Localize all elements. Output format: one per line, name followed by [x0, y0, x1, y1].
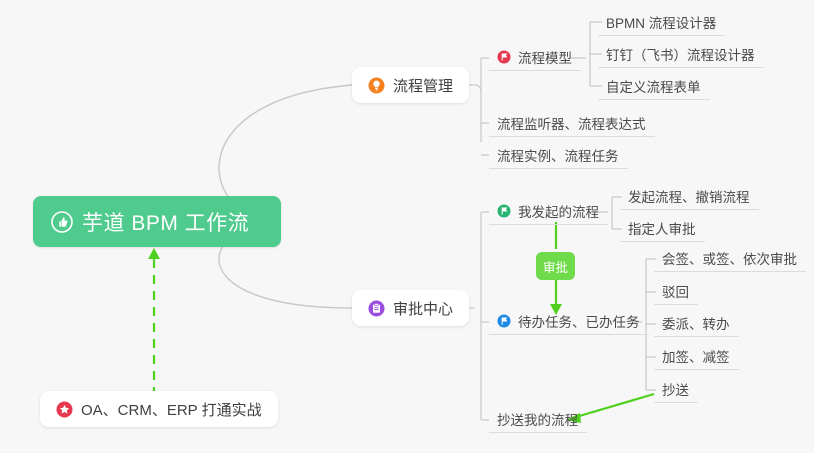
- node-label: 钉钉（飞书）流程设计器: [606, 44, 755, 64]
- bottom-note-integration[interactable]: OA、CRM、ERP 打通实战: [40, 391, 278, 427]
- flag-icon: [497, 204, 511, 218]
- node-label: 加签、减签: [662, 346, 730, 366]
- node-cc-to-me-process[interactable]: 抄送我的流程: [489, 406, 587, 433]
- node-add-remove-sign[interactable]: 加签、减签: [654, 343, 739, 370]
- node-label: 待办任务、已办任务: [518, 311, 640, 331]
- dashed-arrow-to-root: [148, 248, 160, 412]
- node-label: 会签、或签、依次审批: [662, 248, 797, 268]
- node-assigned-approver[interactable]: 指定人审批: [620, 215, 705, 242]
- bottom-note-label: OA、CRM、ERP 打通实战: [81, 399, 262, 420]
- node-label: 自定义流程表单: [606, 76, 701, 96]
- flag-icon: [497, 50, 511, 64]
- node-todo-done-task[interactable]: 待办任务、已办任务: [489, 308, 649, 335]
- branch-approval-center[interactable]: 审批中心: [352, 290, 469, 326]
- star-icon: [56, 401, 73, 418]
- node-process-listener-expression[interactable]: 流程监听器、流程表达式: [489, 110, 655, 137]
- root-label: 芋道 BPM 工作流: [82, 207, 249, 237]
- node-custom-process-form[interactable]: 自定义流程表单: [598, 73, 710, 100]
- flag-icon: [497, 314, 511, 328]
- node-label: BPMN 流程设计器: [606, 12, 716, 32]
- node-delegate-transfer[interactable]: 委派、转办: [654, 310, 739, 337]
- clipboard-icon: [368, 300, 385, 317]
- node-reject[interactable]: 驳回: [654, 278, 698, 305]
- node-start-cancel-process[interactable]: 发起流程、撤销流程: [620, 183, 759, 210]
- node-carbon-copy[interactable]: 抄送: [654, 376, 698, 403]
- node-label: 指定人审批: [628, 218, 696, 238]
- node-label: 流程实例、流程任务: [497, 145, 619, 165]
- lightbulb-icon: [368, 77, 385, 94]
- approval-badge-label: 审批: [543, 257, 568, 276]
- node-process-instance-task[interactable]: 流程实例、流程任务: [489, 142, 628, 169]
- node-bpmn-designer[interactable]: BPMN 流程设计器: [598, 9, 725, 36]
- branch-label: 流程管理: [393, 75, 453, 96]
- node-countersign-orsign-sequential[interactable]: 会签、或签、依次审批: [654, 245, 806, 272]
- node-process-model[interactable]: 流程模型: [489, 44, 581, 71]
- node-label: 委派、转办: [662, 313, 730, 333]
- node-label: 抄送我的流程: [497, 409, 578, 429]
- branch-label: 审批中心: [393, 298, 453, 319]
- node-label: 抄送: [662, 379, 689, 399]
- node-label: 驳回: [662, 281, 689, 301]
- node-my-initiated-process[interactable]: 我发起的流程: [489, 198, 608, 225]
- thumbs-up-icon: [51, 211, 73, 233]
- mindmap-canvas: 芋道 BPM 工作流 流程管理 流程模型 BPMN 流程设计器 钉钉（飞书）流程…: [0, 0, 814, 453]
- node-label: 流程监听器、流程表达式: [497, 113, 646, 133]
- node-dingtalk-feishu-designer[interactable]: 钉钉（飞书）流程设计器: [598, 41, 764, 68]
- node-label: 发起流程、撤销流程: [628, 186, 750, 206]
- branch-process-management[interactable]: 流程管理: [352, 67, 469, 103]
- root-node[interactable]: 芋道 BPM 工作流: [33, 196, 281, 247]
- node-label: 流程模型: [518, 47, 572, 67]
- node-label: 我发起的流程: [518, 201, 599, 221]
- approval-badge: 审批: [536, 252, 575, 280]
